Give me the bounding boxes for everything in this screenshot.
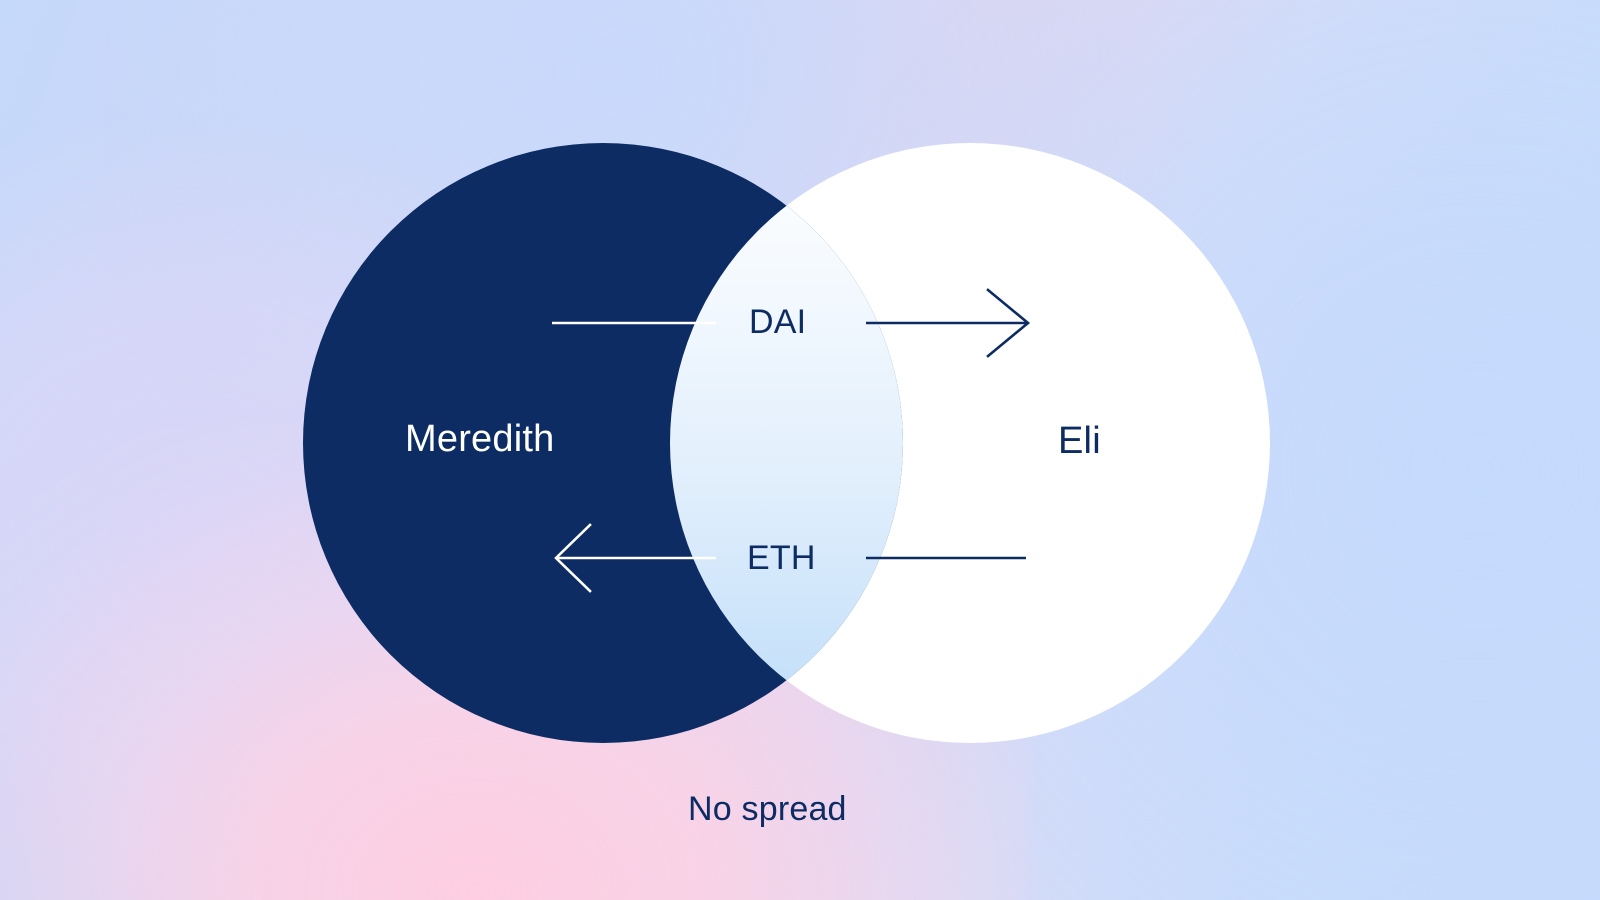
label-meredith: Meredith [405,418,554,461]
label-eli: Eli [1058,420,1101,463]
label-eth-token: ETH [747,539,816,578]
venn-diagram [0,0,1600,900]
diagram-canvas: Meredith Eli DAI ETH No spread [0,0,1600,900]
label-dai-token: DAI [749,303,806,342]
caption-no-spread: No spread [688,790,847,829]
